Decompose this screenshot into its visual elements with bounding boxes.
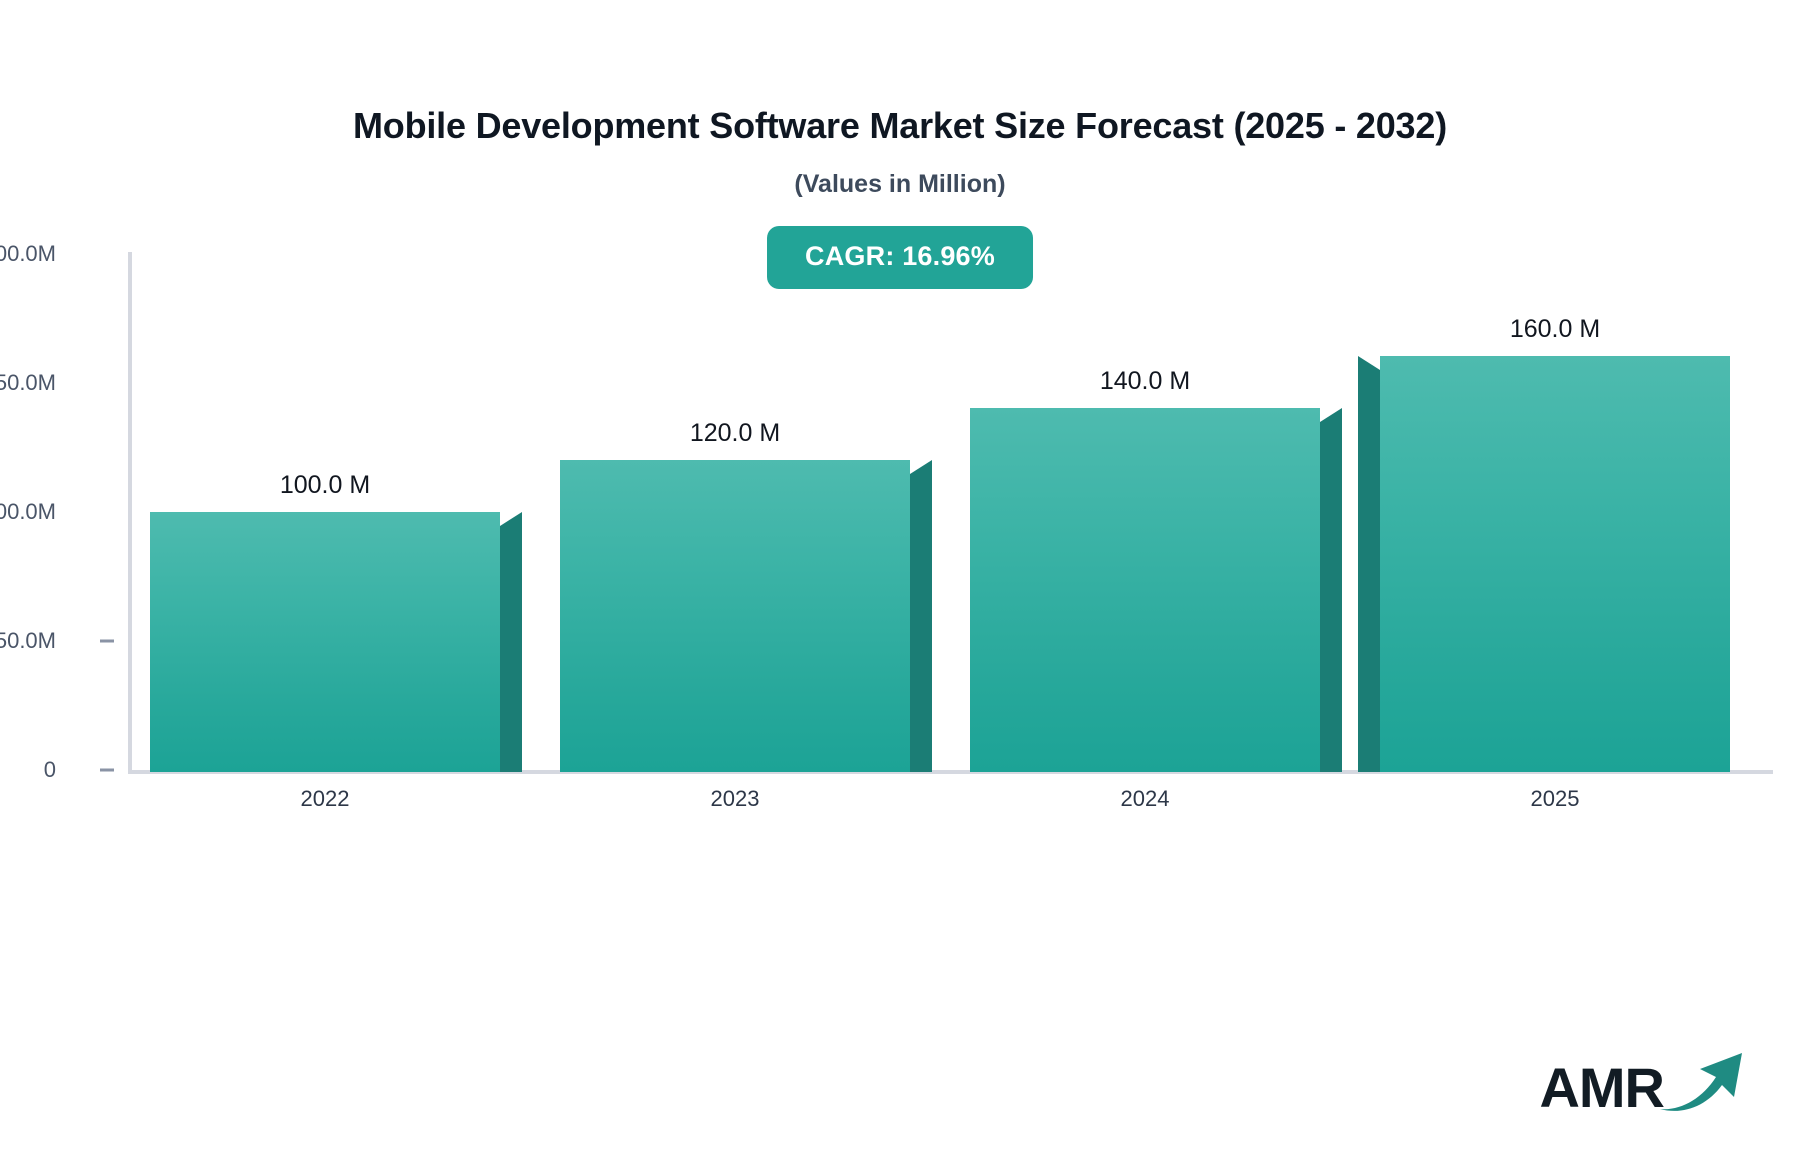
y-tick-dash-0 [100, 769, 114, 772]
bar-side-2025 [1358, 356, 1380, 772]
bar-side-2024 [1320, 408, 1342, 772]
bar-value-label-2022: 100.0 M [150, 471, 500, 500]
bar-2023[interactable]: 120.0 M [560, 460, 910, 772]
bar-value-label-2025: 160.0 M [1380, 315, 1730, 344]
x-tick-label-2025: 2025 [1405, 786, 1705, 812]
bar-2024[interactable]: 140.0 M [970, 408, 1320, 772]
bar-2025[interactable]: 160.0 M [1380, 356, 1730, 772]
bar-value-label-2023: 120.0 M [560, 419, 910, 448]
x-tick-label-2023: 2023 [585, 786, 885, 812]
y-tick-label-150: 150.0M [0, 370, 56, 396]
plot-area: 100.0 M 120.0 M 140.0 M 160.0 M [128, 252, 1768, 772]
bar-face-2024 [970, 408, 1320, 772]
y-tick-label-100: 100.0M [0, 499, 56, 525]
bar-value-label-2024: 140.0 M [970, 367, 1320, 396]
y-tick-label-50: 50.0M [0, 628, 56, 654]
bar-face-2023 [560, 460, 910, 772]
y-tick-dash-50 [100, 640, 114, 643]
chart-page: Mobile Development Software Market Size … [0, 0, 1800, 1156]
bar-2022[interactable]: 100.0 M [150, 512, 500, 772]
x-tick-label-2022: 2022 [175, 786, 475, 812]
bar-face-2022 [150, 512, 500, 772]
y-tick-label-0: 0 [0, 757, 56, 783]
y-tick-label-200: 200.0M [0, 241, 56, 267]
bar-face-2025 [1380, 356, 1730, 772]
growth-arrow-icon [1658, 1049, 1744, 1120]
chart-title: Mobile Development Software Market Size … [0, 104, 1800, 147]
x-tick-label-2024: 2024 [995, 786, 1295, 812]
chart-subtitle: (Values in Million) [0, 170, 1800, 199]
bar-side-2022 [500, 512, 522, 772]
bar-side-2023 [910, 460, 932, 772]
amr-logo: AMR [1539, 1049, 1744, 1116]
amr-logo-text: AMR [1539, 1060, 1664, 1116]
